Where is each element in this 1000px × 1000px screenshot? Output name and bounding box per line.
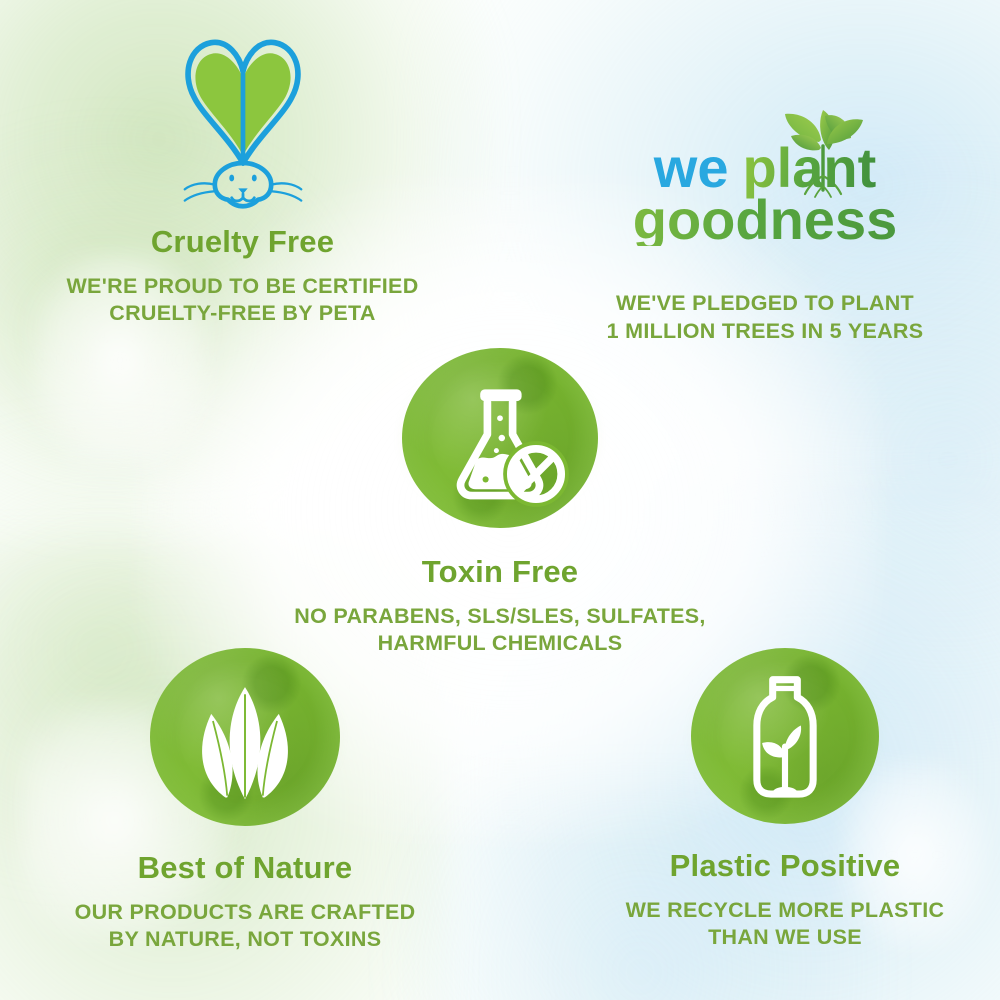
badge-we-plant-goodness: weplant goodness WE'VE PLEDGED TO PLANT … xyxy=(545,100,985,345)
logo-word-goodness: goodness xyxy=(545,194,985,246)
badge-title-plastic-positive: Plastic Positive xyxy=(560,850,1000,883)
badge-title-cruelty-free: Cruelty Free xyxy=(15,226,470,259)
badge-subtitle-line: BY NATURE, NOT TOXINS xyxy=(20,926,470,954)
infographic-canvas: Cruelty Free WE'RE PROUD TO BE CERTIFIED… xyxy=(0,0,1000,1000)
best-of-nature-badge-circle xyxy=(150,648,340,826)
badge-best-of-nature: Best of Nature OUR PRODUCTS ARE CRAFTED … xyxy=(20,648,470,954)
badge-subtitle-line: CRUELTY-FREE BY PETA xyxy=(15,300,470,328)
plastic-positive-badge-circle xyxy=(691,648,879,824)
badge-toxin-free: Toxin Free No PARABENS, SLS/SLES, SULFAT… xyxy=(275,348,725,658)
badge-plastic-positive: Plastic Positive WE RECYCLE MORE PLASTIC… xyxy=(560,648,1000,952)
badge-subtitle-line: THAN WE USE xyxy=(560,924,1000,952)
peta-bunny-heart-ears-icon xyxy=(15,22,470,210)
badge-subtitle-line: WE'RE PROUD TO BE CERTIFIED xyxy=(15,273,470,301)
badge-subtitle-line: WE'VE PLEDGED TO PLANT xyxy=(545,290,985,318)
badge-subtitle-line: 1 MILLION TREES IN 5 YEARS xyxy=(545,318,985,346)
badge-title-best-of-nature: Best of Nature xyxy=(20,852,470,885)
bottle-sprout-icon xyxy=(691,648,879,824)
badge-title-toxin-free: Toxin Free xyxy=(275,556,725,589)
flask-no-entry-icon xyxy=(402,348,598,528)
we-plant-goodness-logo: weplant goodness xyxy=(545,100,985,250)
badge-subtitle-line: No PARABENS, SLS/SLES, SULFATES, xyxy=(275,603,725,631)
badge-cruelty-free: Cruelty Free WE'RE PROUD TO BE CERTIFIED… xyxy=(15,22,470,328)
toxin-free-badge-circle xyxy=(402,348,598,528)
badge-subtitle-line: OUR PRODUCTS ARE CRAFTED xyxy=(20,899,470,927)
three-leaves-icon xyxy=(150,648,340,826)
badge-subtitle-line: WE RECYCLE MORE PLASTIC xyxy=(560,897,1000,925)
